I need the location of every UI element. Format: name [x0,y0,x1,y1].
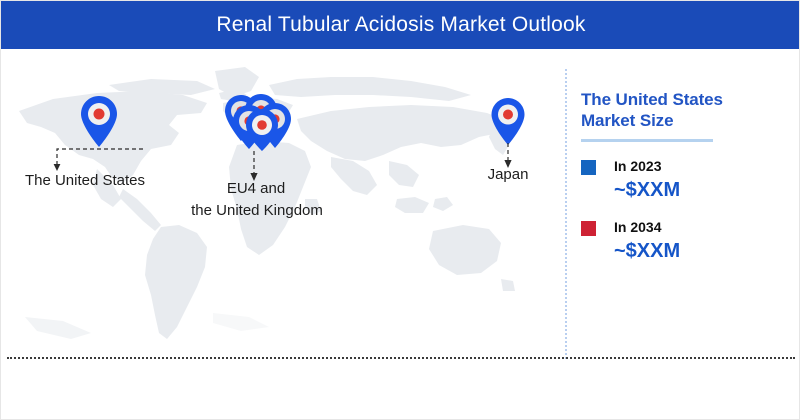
legend-swatch-2034 [581,221,596,236]
infographic-slide: Renal Tubular Acidosis Market Outlook [0,0,800,420]
map-pin-icon [223,93,295,151]
legend-item: In 2023 ~$XXM [581,158,793,203]
marker-label-the-united-states: The United States [15,171,155,191]
panel-title-underline [581,139,713,142]
legend-value-2023: ~$XXM [614,178,680,203]
map-pin-icon [79,95,119,149]
page-title: Renal Tubular Acidosis Market Outlook [216,13,585,37]
legend-swatch-2023 [581,160,596,175]
market-size-panel: The United States Market Size In 2023 ~$… [581,89,793,280]
world-map: The United States [1,49,566,357]
panel-divider [565,69,567,359]
map-pin-icon [490,97,526,147]
legend-year-2023: In 2023 [614,158,680,175]
marker-label-eu4-and-the-united-kingdom-line1: EU4 and [179,179,333,199]
panel-title-line1: The United States [581,89,793,110]
legend-value-2034: ~$XXM [614,239,680,264]
header-bar: Renal Tubular Acidosis Market Outlook [1,1,800,49]
legend-year-2034: In 2034 [614,219,680,236]
marker-label-japan: Japan [463,165,553,185]
legend-text-2023: In 2023 ~$XXM [614,158,680,203]
marker-eu4-and-the-united-kingdom[interactable] [223,93,295,156]
footer: Source: Renal Tubular Acidosis Market In… [1,359,800,420]
legend-item: In 2034 ~$XXM [581,219,793,264]
market-size-legend: In 2023 ~$XXM In 2034 ~$XXM [581,158,793,264]
panel-title: The United States Market Size [581,89,793,131]
legend-text-2034: In 2034 ~$XXM [614,219,680,264]
marker-label-eu4-and-the-united-kingdom-line2: the United Kingdom [169,201,345,221]
panel-title-line2: Market Size [581,110,793,131]
